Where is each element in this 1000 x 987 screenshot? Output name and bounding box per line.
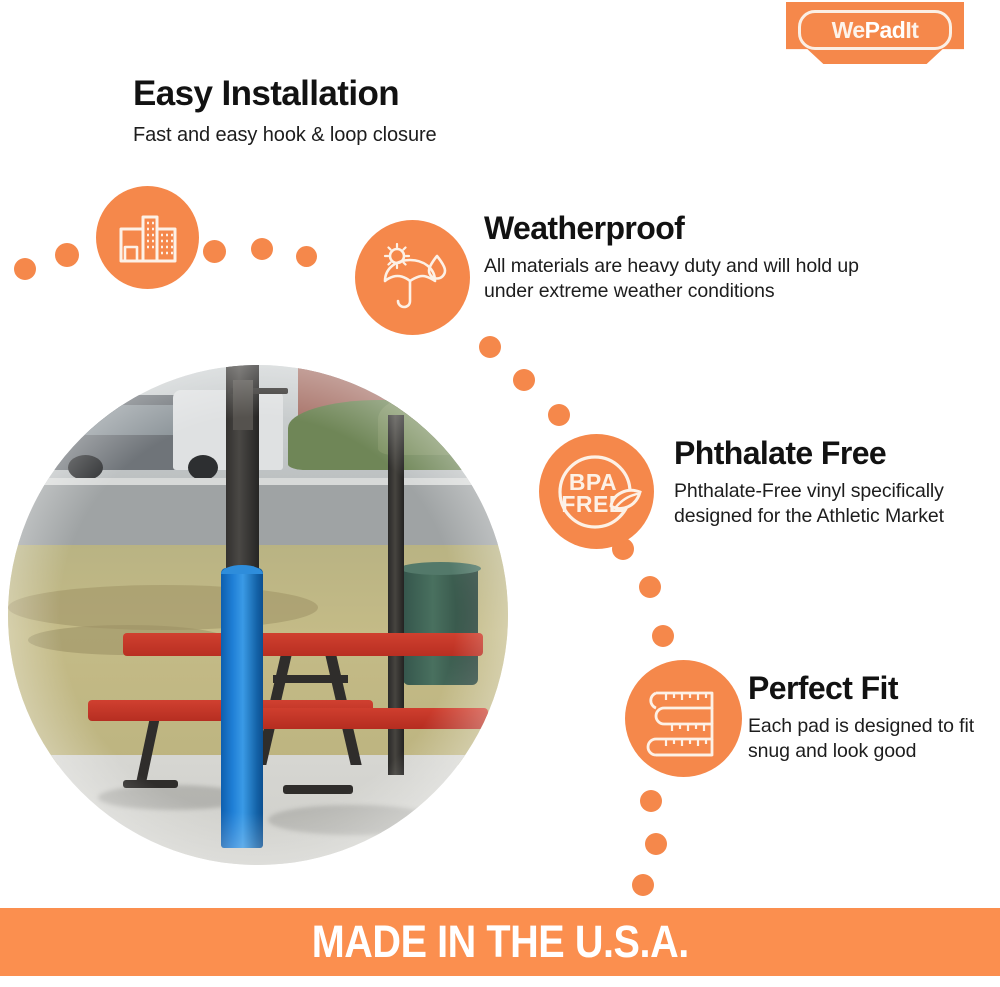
made-in-usa-text: MADE IN THE U.S.A. [311, 916, 688, 968]
feature-phthalate-free: Phthalate Free Phthalate-Free vinyl spec… [674, 437, 974, 529]
umbrella-sun-rain-icon [355, 220, 470, 335]
feature-description: Each pad is designed to fit snug and loo… [748, 714, 980, 765]
feature-weatherproof: Weatherproof All materials are heavy dut… [484, 212, 899, 304]
logo-text-suffix: It [905, 17, 918, 43]
photo-vignette [8, 365, 508, 865]
product-photo-pole-pad [8, 365, 508, 865]
feature-perfect-fit: Perfect Fit Each pad is designed to fit … [748, 672, 980, 764]
feature-description: All materials are heavy duty and will ho… [484, 254, 899, 305]
feature-title: Perfect Fit [748, 672, 980, 706]
path-dot [632, 874, 654, 896]
tape-measure-icon [625, 660, 742, 777]
path-dot [55, 243, 79, 267]
path-dot [640, 790, 662, 812]
path-dot [548, 404, 570, 426]
feature-title: Phthalate Free [674, 437, 974, 471]
path-dot [203, 240, 226, 263]
logo-text-main: Pad [865, 17, 906, 43]
path-dot [639, 576, 661, 598]
path-dot [251, 238, 273, 260]
path-dot [296, 246, 317, 267]
path-dot [652, 625, 674, 647]
bpa-free-leaf-icon: BPA FREE [539, 434, 654, 549]
building-icon [96, 186, 199, 289]
logo-text-prefix: We [832, 17, 865, 43]
brand-logo: WePadIt [786, 2, 964, 64]
path-dot [645, 833, 667, 855]
feature-title: Easy Installation [133, 76, 563, 113]
infographic-canvas: WePadIt [0, 0, 1000, 987]
path-dot [479, 336, 501, 358]
logo-text: WePadIt [832, 19, 919, 42]
made-in-usa-banner: MADE IN THE U.S.A. [0, 908, 1000, 976]
path-dot [14, 258, 36, 280]
logo-outline-frame: WePadIt [798, 10, 952, 50]
feature-description: Fast and easy hook & loop closure [133, 122, 563, 148]
feature-easy-installation: Easy Installation Fast and easy hook & l… [133, 76, 563, 148]
feature-description: Phthalate-Free vinyl specifically design… [674, 479, 974, 530]
feature-title: Weatherproof [484, 212, 899, 246]
path-dot [513, 369, 535, 391]
